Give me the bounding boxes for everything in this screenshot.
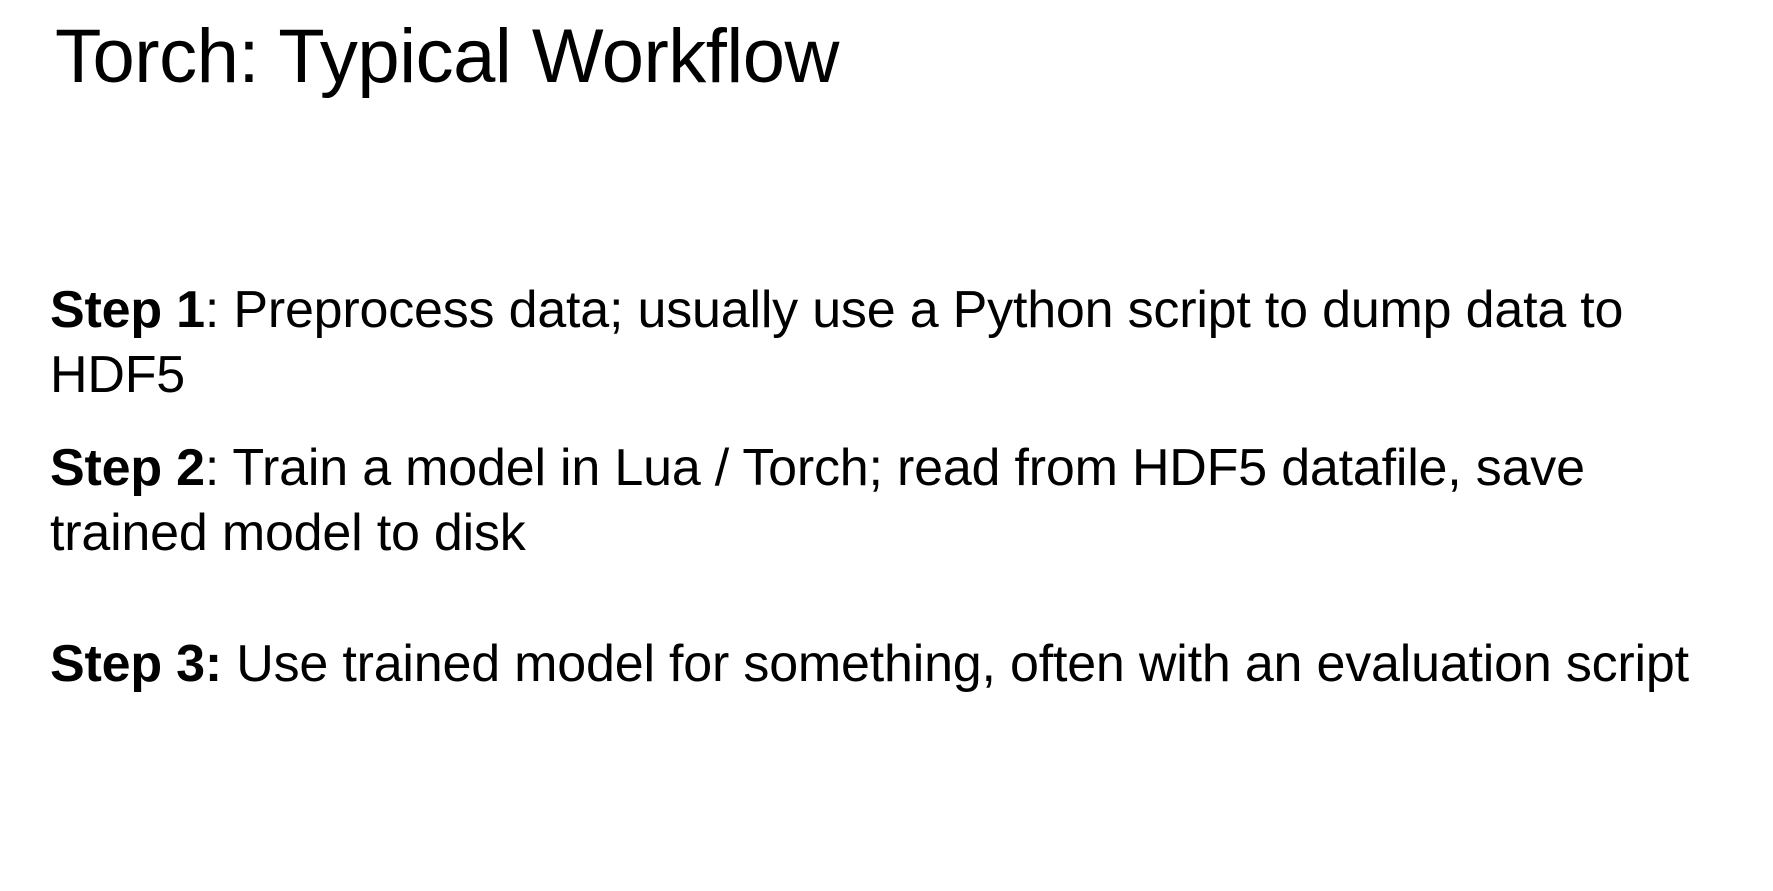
step-1-label: Step 1: [50, 281, 205, 339]
step-1-separator: :: [205, 281, 234, 339]
step-3-text: Use trained model for something, often w…: [236, 635, 1689, 693]
step-1-text: Preprocess data; usually use a Python sc…: [50, 281, 1623, 404]
step-paragraph-3: Step 3: Use trained model for something,…: [50, 632, 1695, 697]
step-3-separator: [222, 635, 236, 693]
slide: Torch: Typical Workflow Step 1: Preproce…: [0, 0, 1773, 891]
step-2-separator: :: [205, 439, 233, 497]
step-paragraph-1: Step 1: Preprocess data; usually use a P…: [50, 278, 1695, 408]
step-3-label: Step 3:: [50, 635, 222, 693]
slide-body: Step 1: Preprocess data; usually use a P…: [50, 278, 1695, 697]
step-2-text: Train a model in Lua / Torch; read from …: [50, 439, 1585, 562]
step-paragraph-2: Step 2: Train a model in Lua / Torch; re…: [50, 436, 1695, 566]
page-title: Torch: Typical Workflow: [55, 14, 1715, 99]
step-2-label: Step 2: [50, 439, 205, 497]
